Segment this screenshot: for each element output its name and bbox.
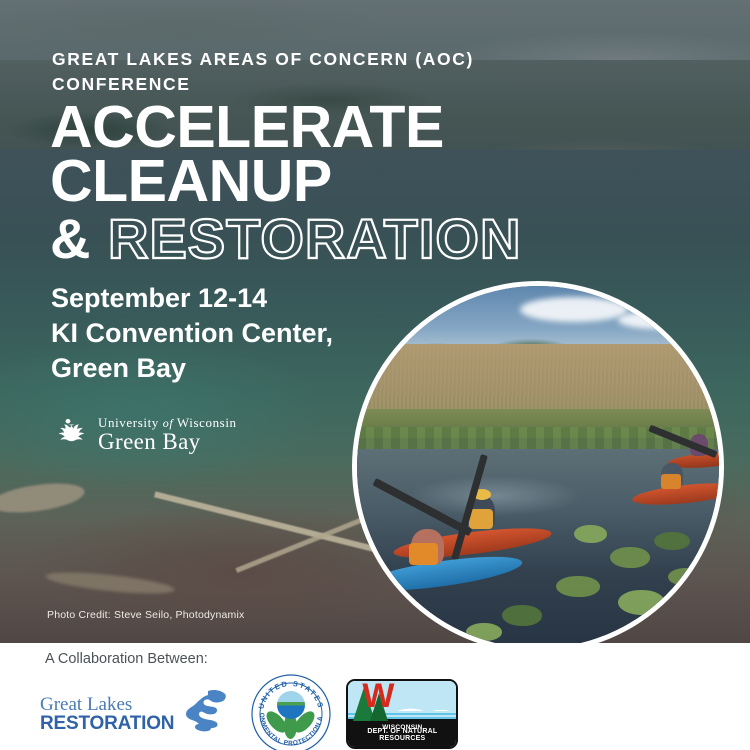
title-line-accelerate: ACCELERATE [50, 100, 610, 154]
lily-pad [654, 532, 690, 550]
event-date: September 12-14 [51, 281, 381, 316]
lily-pad [610, 547, 650, 569]
green-bay-line: Green Bay [98, 430, 237, 453]
ampersand: & [50, 207, 108, 270]
lily-pad [502, 605, 542, 627]
page-title: ACCELERATE CLEANUP & RESTORATION [50, 100, 610, 264]
dnr-w-mark: W [362, 679, 394, 713]
lily-pad [556, 576, 599, 598]
phoenix-icon [48, 412, 88, 457]
event-kicker: GREAT LAKES AREAS OF CONCERN (AOC) CONFE… [52, 47, 492, 97]
us-epa-seal: UNITED STATES ENVIRONMENTAL PROTECTION A… [250, 673, 332, 750]
conference-poster: GREAT LAKES AREAS OF CONCERN (AOC) CONFE… [0, 0, 750, 750]
lily-pad [466, 623, 502, 641]
great-lakes-restoration-logo: Great Lakes RESTORATION [40, 688, 236, 741]
glr-wordmark: Great Lakes RESTORATION [40, 695, 174, 733]
restoration-word: RESTORATION [108, 207, 521, 270]
photo-water-sheen [386, 467, 603, 525]
lily-pad [574, 525, 607, 543]
life-vest [409, 543, 438, 565]
event-venue: KI Convention Center, [51, 316, 381, 351]
kayakers-wetland-photo [352, 281, 724, 653]
glr-line-1: Great Lakes [40, 695, 174, 714]
lily-pad [618, 590, 665, 615]
life-vest [661, 474, 681, 488]
event-details: September 12-14 KI Convention Center, Gr… [51, 281, 381, 386]
life-vest [469, 509, 493, 529]
dnr-line-2: DEPT. OF NATURAL RESOURCES [348, 728, 456, 742]
university-line: University of Wisconsin [98, 416, 237, 429]
kayakers-photo-inner [357, 286, 719, 648]
uw-green-bay-wordmark: University of Wisconsin Green Bay [98, 416, 237, 453]
epa-emblem [264, 687, 318, 741]
partner-logos: Great Lakes RESTORATION [40, 673, 458, 750]
photo-credit: Photo Credit: Steve Seilo, Photodynamix [47, 609, 245, 621]
title-line-cleanup: CLEANUP [50, 154, 610, 208]
collaboration-label: A Collaboration Between: [45, 651, 208, 667]
title-line-restoration: & RESTORATION [50, 213, 610, 265]
great-lakes-map-icon [178, 688, 236, 741]
lily-pad [668, 568, 704, 586]
event-city: Green Bay [51, 351, 381, 386]
uw-green-bay-logo: University of Wisconsin Green Bay [48, 412, 237, 457]
footer-bar: A Collaboration Between: Great Lakes RES… [0, 643, 750, 750]
glr-line-2: RESTORATION [40, 714, 174, 733]
wisconsin-dnr-logo: W WISCONSIN DEPT. OF NATURAL RESOURCES [346, 679, 458, 749]
